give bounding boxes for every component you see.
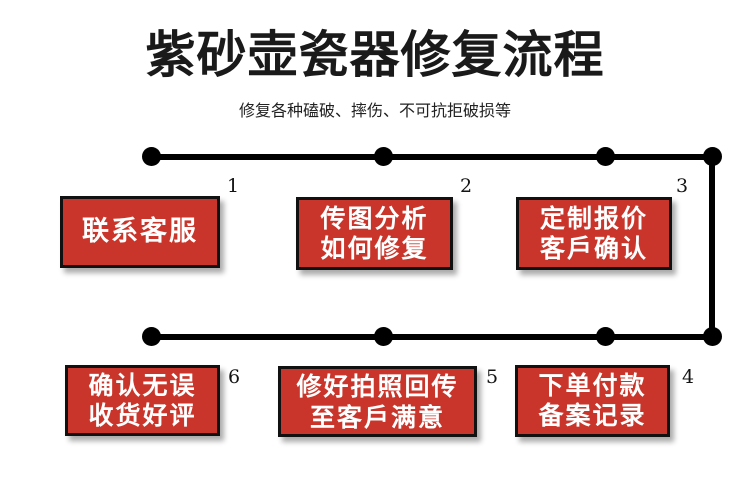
top-node-2 — [374, 147, 393, 166]
step-6-line-1: 确认无误 — [88, 371, 196, 401]
step-1-line-1: 联系客服 — [82, 215, 198, 249]
step-box-1[interactable]: 联系客服 — [60, 196, 220, 268]
step-5-line-2: 至客戶满意 — [310, 402, 445, 433]
step-number-1: 1 — [227, 177, 239, 196]
bottom-node-3 — [596, 327, 615, 346]
step-4-line-1: 下单付款 — [538, 371, 646, 401]
step-3-line-1: 定制报价 — [540, 204, 648, 234]
step-box-5[interactable]: 修好拍照回传 至客戶满意 — [278, 366, 477, 437]
bottom-rail-line — [152, 334, 714, 340]
bottom-node-4 — [703, 327, 722, 346]
step-2-line-1: 传图分析 — [320, 204, 428, 234]
top-node-1 — [142, 147, 161, 166]
step-2-line-2: 如何修复 — [320, 234, 428, 264]
top-node-3 — [596, 147, 615, 166]
step-box-3[interactable]: 定制报价 客戶确认 — [516, 197, 672, 270]
page-subtitle: 修复各种磕破、摔伤、不可抗拒破损等 — [0, 100, 750, 122]
step-box-2[interactable]: 传图分析 如何修复 — [296, 197, 453, 270]
flowchart-canvas: 紫砂壶瓷器修复流程 修复各种磕破、摔伤、不可抗拒破损等 1 联系客服 2 传图分… — [0, 0, 750, 478]
step-number-2: 2 — [460, 177, 472, 196]
bottom-node-1 — [142, 327, 161, 346]
step-number-5: 5 — [486, 368, 498, 387]
step-4-line-2: 备案记录 — [538, 401, 646, 431]
step-number-4: 4 — [682, 368, 694, 387]
right-connector-line — [709, 156, 715, 338]
bottom-node-2 — [374, 327, 393, 346]
step-box-4[interactable]: 下单付款 备案记录 — [515, 365, 670, 437]
top-rail-line — [152, 154, 714, 160]
step-number-3: 3 — [676, 177, 688, 196]
page-title: 紫砂壶瓷器修复流程 — [0, 26, 750, 84]
step-6-line-2: 收货好评 — [88, 401, 196, 431]
step-box-6[interactable]: 确认无误 收货好评 — [65, 365, 220, 436]
step-number-6: 6 — [228, 368, 240, 387]
step-5-line-1: 修好拍照回传 — [296, 371, 458, 402]
step-3-line-2: 客戶确认 — [540, 234, 648, 264]
